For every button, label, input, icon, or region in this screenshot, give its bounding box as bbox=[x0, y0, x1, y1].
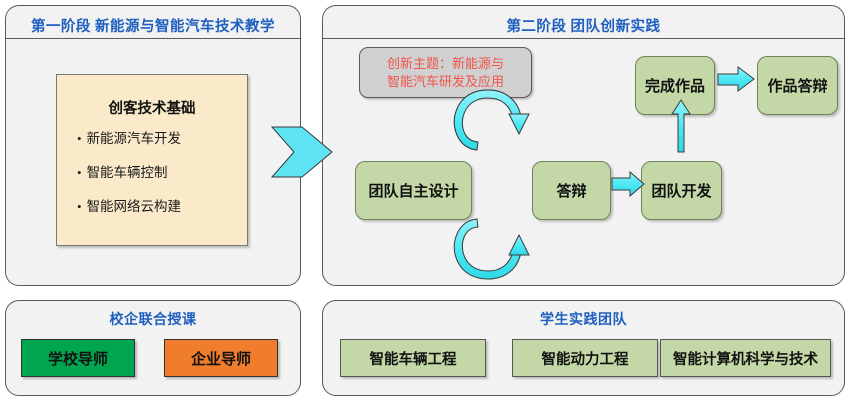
node-work-defense: 作品答辩 bbox=[757, 56, 838, 115]
node-team-development: 团队开发 bbox=[641, 161, 722, 220]
node-finish-work: 完成作品 bbox=[635, 56, 715, 115]
badge-major-computer-science-label: 智能计算机科学与技术 bbox=[673, 348, 818, 369]
panel-stage-two-divider bbox=[323, 38, 844, 39]
badge-school-mentor-label: 学校导师 bbox=[48, 348, 108, 369]
panel-joint-teaching-title: 校企联合授课 bbox=[6, 309, 300, 329]
badge-major-computer-science: 智能计算机科学与技术 bbox=[660, 339, 831, 377]
innovation-theme-line-1: 创新主题：新能源与 bbox=[387, 55, 504, 73]
badge-company-mentor-label: 企业导师 bbox=[191, 348, 251, 369]
maker-tech-foundation-card: 创客技术基础 新能源汽车开发 智能车辆控制 智能网络云构建 bbox=[56, 74, 248, 246]
list-item: 智能网络云构建 bbox=[77, 195, 237, 215]
badge-company-mentor: 企业导师 bbox=[164, 339, 278, 377]
panel-student-teams-title: 学生实践团队 bbox=[323, 309, 844, 329]
innovation-theme-box: 创新主题：新能源与 智能汽车研发及应用 bbox=[359, 47, 532, 98]
node-work-defense-label: 作品答辩 bbox=[767, 75, 827, 96]
badge-school-mentor: 学校导师 bbox=[21, 339, 135, 377]
panel-stage-two-title: 第二阶段 团队创新实践 bbox=[323, 15, 844, 36]
node-team-development-label: 团队开发 bbox=[651, 180, 711, 201]
panel-joint-teaching: 校企联合授课 学校导师 企业导师 bbox=[5, 300, 301, 396]
panel-stage-one-divider bbox=[6, 38, 300, 39]
list-item: 智能车辆控制 bbox=[77, 161, 237, 181]
node-defense-label: 答辩 bbox=[556, 180, 586, 201]
panel-stage-two: 第二阶段 团队创新实践 创新主题：新能源与 智能汽车研发及应用 团队自主设计 答… bbox=[322, 5, 845, 286]
panel-stage-one-title: 第一阶段 新能源与智能汽车技术教学 bbox=[6, 15, 300, 36]
badge-major-power-label: 智能动力工程 bbox=[542, 348, 629, 369]
maker-tech-foundation-title: 创客技术基础 bbox=[57, 97, 247, 118]
innovation-theme-line-2: 智能汽车研发及应用 bbox=[387, 73, 504, 91]
maker-tech-foundation-list: 新能源汽车开发 智能车辆控制 智能网络云构建 bbox=[77, 127, 237, 229]
list-item: 新能源汽车开发 bbox=[77, 127, 237, 147]
node-finish-work-label: 完成作品 bbox=[645, 75, 705, 96]
panel-student-teams: 学生实践团队 智能车辆工程 智能动力工程 智能计算机科学与技术 bbox=[322, 300, 845, 396]
diagram-canvas: 第一阶段 新能源与智能汽车技术教学 创客技术基础 新能源汽车开发 智能车辆控制 … bbox=[0, 0, 850, 401]
node-defense: 答辩 bbox=[532, 161, 611, 220]
badge-major-power: 智能动力工程 bbox=[512, 339, 658, 377]
node-team-design: 团队自主设计 bbox=[355, 161, 472, 220]
badge-major-vehicle: 智能车辆工程 bbox=[340, 339, 486, 377]
badge-major-vehicle-label: 智能车辆工程 bbox=[370, 348, 457, 369]
node-team-design-label: 团队自主设计 bbox=[368, 180, 458, 201]
panel-stage-one: 第一阶段 新能源与智能汽车技术教学 创客技术基础 新能源汽车开发 智能车辆控制 … bbox=[5, 5, 301, 286]
